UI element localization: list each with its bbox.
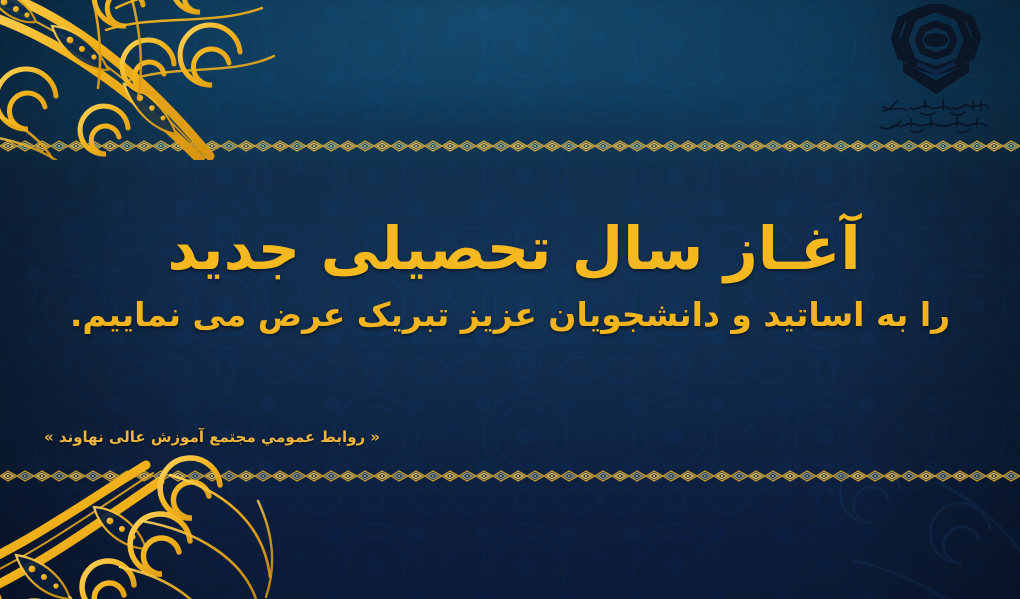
- headline-block: آغـاز سال تحصیلی جدید را به اساتید و دان…: [0, 218, 1020, 334]
- chain-border-band-bottom-icon: [0, 470, 1020, 482]
- logo-calligraphy-script-icon: [877, 94, 995, 136]
- signature-text: « روابط عمومي مجتمع آموزش عالی نهاوند »: [44, 428, 380, 446]
- chain-border-band-top-icon: [0, 140, 1020, 152]
- page-subtitle: را به اساتید و دانشجویان عزیز تبریک عرض …: [0, 296, 1020, 334]
- greeting-banner: آغـاز سال تحصیلی جدید را به اساتید و دان…: [0, 0, 1020, 599]
- university-logo: [876, 4, 996, 139]
- page-title: آغـاز سال تحصیلی جدید: [0, 218, 1020, 280]
- eight-pointed-star-logo-icon: [883, 4, 989, 96]
